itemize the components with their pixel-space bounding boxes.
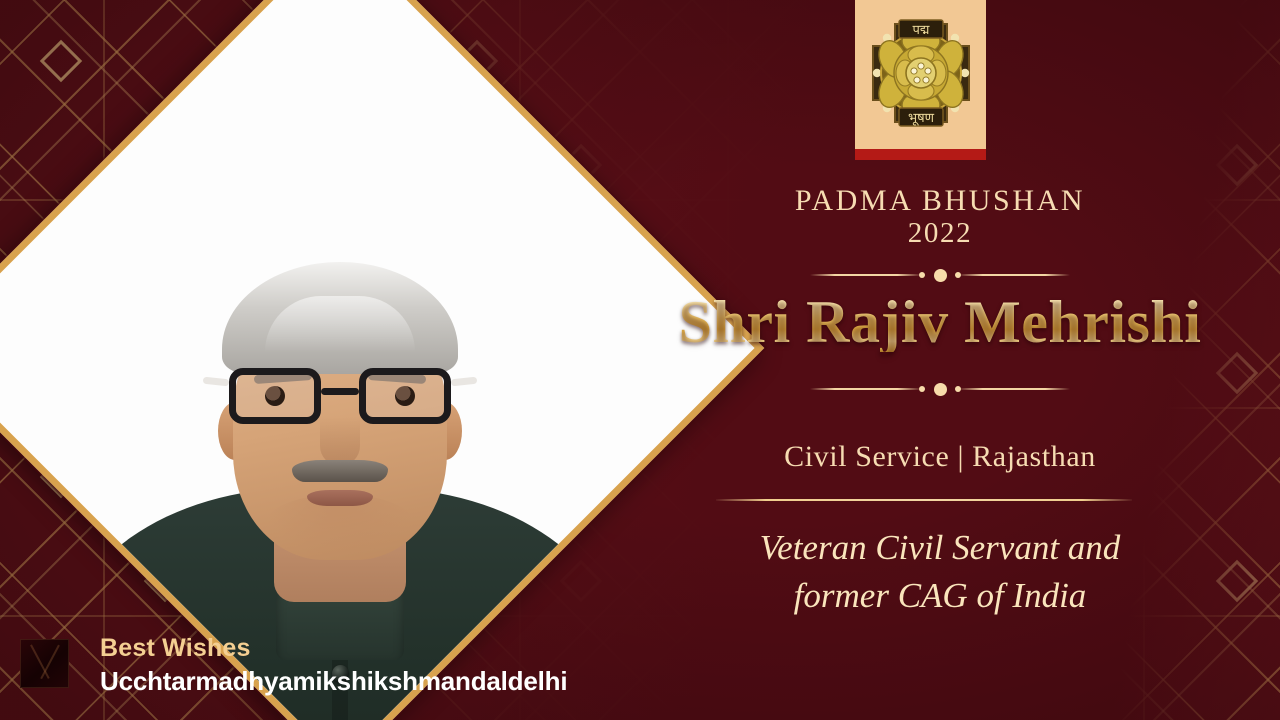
organization-logo bbox=[20, 639, 69, 688]
award-card: पद्म भूषण PADMA BHUSHAN 2022 Shri Rajiv … bbox=[0, 0, 1280, 720]
portrait-eye bbox=[395, 386, 415, 406]
medal-panel-red-bar bbox=[855, 149, 986, 160]
portrait-moustache bbox=[292, 460, 388, 482]
honoree-name: Shri Rajiv Mehrishi bbox=[640, 292, 1240, 352]
ornament-center-dot bbox=[934, 383, 947, 396]
citation: Veteran Civil Servant and former CAG of … bbox=[640, 524, 1240, 619]
padma-bhushan-medal-panel: पद्म भूषण bbox=[855, 0, 986, 160]
ornament-small-dot bbox=[955, 272, 961, 278]
medal-bottom-script: भूषण bbox=[907, 111, 934, 126]
padma-bhushan-lotus-medal-icon: पद्म भूषण bbox=[863, 14, 979, 132]
portrait-mouth bbox=[307, 490, 373, 506]
ornament-small-dot bbox=[919, 386, 925, 392]
award-year: 2022 bbox=[640, 217, 1240, 250]
citation-line-1: Veteran Civil Servant and bbox=[640, 524, 1240, 572]
footer-greeting: Best Wishes bbox=[100, 634, 251, 663]
ornament-small-dot bbox=[919, 272, 925, 278]
ornament-center-dot bbox=[934, 269, 947, 282]
portrait-eye bbox=[265, 386, 285, 406]
portrait-nose bbox=[320, 416, 360, 466]
portrait-glasses-bridge bbox=[321, 388, 359, 395]
award-title: PADMA BHUSHAN bbox=[640, 183, 1240, 220]
ornament-small-dot bbox=[955, 386, 961, 392]
ornament-divider-top bbox=[640, 266, 1240, 284]
field-and-state: Civil Service | Rajasthan bbox=[640, 440, 1240, 474]
ornament-divider-bottom bbox=[640, 380, 1240, 398]
horizontal-rule bbox=[716, 499, 1132, 501]
ornament-bar-right bbox=[958, 274, 1070, 276]
footer-organization-name: Ucchtarmadhyamikshikshmandaldelhi bbox=[100, 666, 567, 697]
ornament-bar-left bbox=[810, 274, 922, 276]
ornament-bar-right bbox=[958, 388, 1070, 390]
medal-top-script: पद्म bbox=[912, 23, 929, 38]
ornament-bar-left bbox=[810, 388, 922, 390]
citation-line-2: former CAG of India bbox=[640, 572, 1240, 620]
